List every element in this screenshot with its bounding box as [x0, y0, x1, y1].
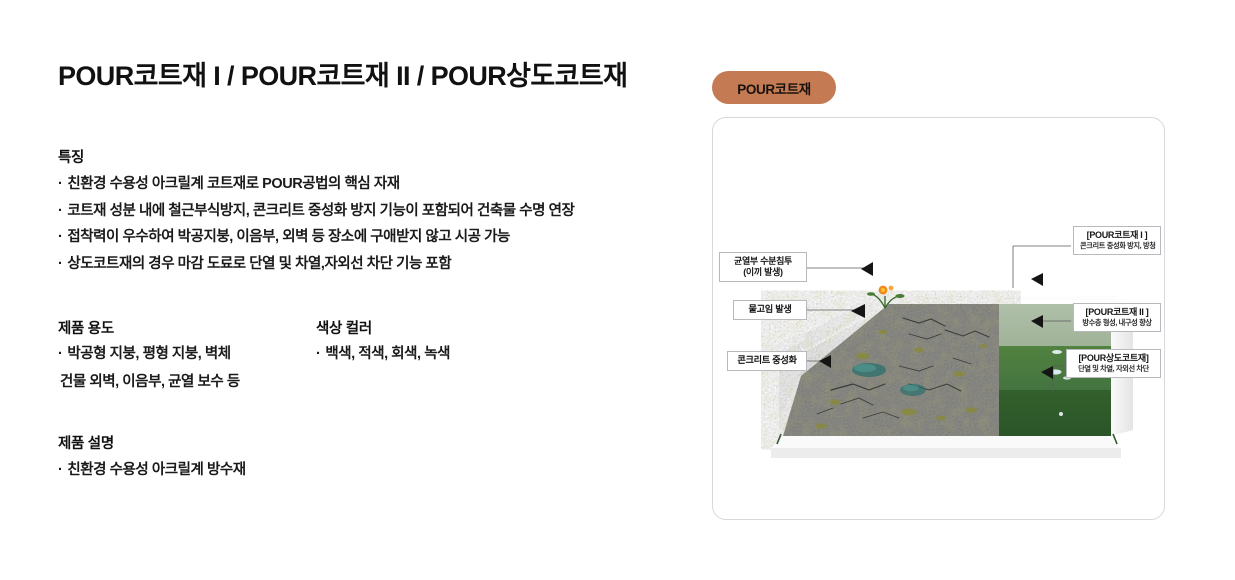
- callout-line1: 콘크리트 중성화: [734, 355, 800, 366]
- list-item: ·접착력이 우수하여 박공지붕, 이음부, 외벽 등 장소에 구애받지 않고 시…: [58, 230, 574, 245]
- callout-line1: 균열부 수분침투: [726, 256, 800, 267]
- page-root: POUR코트재 I / POUR코트재 II / POUR상도코트재 특징 ·친…: [0, 0, 1235, 580]
- feature-text: 상도코트재의 경우 마감 도료로 단열 및 차열,자외선 차단 기능 포함: [67, 256, 451, 272]
- usage-list: ·박공형 지붕, 평형 지붕, 벽체: [58, 347, 231, 374]
- description-text: 친환경 수용성 아크릴계 방수재: [67, 462, 245, 478]
- feature-text: 접착력이 우수하여 박공지붕, 이음부, 외벽 등 장소에 구애받지 않고 시공…: [67, 229, 510, 245]
- color-text: 백색, 적색, 회색, 녹색: [325, 346, 450, 362]
- bullet-dot: ·: [58, 203, 62, 219]
- bullet-dot: ·: [58, 229, 62, 245]
- bullet-dot: ·: [58, 176, 62, 192]
- feature-text: 코트재 성분 내에 철근부식방지, 콘크리트 중성화 방지 기능이 포함되어 건…: [67, 203, 574, 219]
- features-list: ·친환경 수용성 아크릴계 코트재로 POUR공법의 핵심 자재 ·코트재 성분…: [58, 177, 574, 283]
- callout-pour-top-coat: [POUR상도코트재] 단열 및 차열, 자외선 차단: [1066, 349, 1161, 378]
- bullet-dot: ·: [58, 256, 62, 272]
- callout-pour-coat-2: [POUR코트재 II ] 방수층 형성, 내구성 향상: [1073, 303, 1161, 332]
- pour-coat-badge: POUR코트재: [712, 71, 836, 104]
- description-heading: 제품 설명: [58, 432, 114, 453]
- callout-line1: [POUR코트재 II ]: [1080, 307, 1154, 318]
- callout-line2: (이끼 발생): [726, 267, 800, 278]
- coat-band-bottom: [999, 390, 1111, 436]
- list-item: ·코트재 성분 내에 철근부식방지, 콘크리트 중성화 방지 기능이 포함되어 …: [58, 204, 574, 219]
- callout-line2: 방수층 형성, 내구성 향상: [1080, 319, 1154, 327]
- features-heading: 특징: [58, 146, 84, 167]
- colors-list: ·백색, 적색, 회색, 녹색: [316, 347, 450, 374]
- callout-crack-moisture: 균열부 수분침투 (이끼 발생): [719, 252, 807, 282]
- usage-text: 박공형 지붕, 평형 지붕, 벽체: [67, 346, 230, 362]
- callout-line1: 물고임 발생: [740, 304, 800, 315]
- list-item: ·박공형 지붕, 평형 지붕, 벽체: [58, 347, 231, 362]
- callout-line2: 단열 및 차열, 자외선 차단: [1073, 365, 1154, 373]
- bullet-dot: ·: [58, 346, 62, 362]
- colors-heading: 색상 컬러: [316, 317, 372, 338]
- usage-extra-line: 건물 외벽, 이음부, 균열 보수 등: [60, 375, 240, 390]
- callout-concrete-neutralization: 콘크리트 중성화: [727, 351, 807, 371]
- callout-water-pooling: 물고임 발생: [733, 300, 807, 320]
- bullet-dot: ·: [316, 346, 320, 362]
- feature-text: 친환경 수용성 아크릴계 코트재로 POUR공법의 핵심 자재: [67, 176, 399, 192]
- diagram-panel: 균열부 수분침투 (이끼 발생) 물고임 발생 콘크리트 중성화 [POUR코트…: [712, 117, 1165, 520]
- list-item: ·친환경 수용성 아크릴계 코트재로 POUR공법의 핵심 자재: [58, 177, 574, 192]
- list-item: ·백색, 적색, 회색, 녹색: [316, 347, 450, 362]
- left-content-column: POUR코트재 I / POUR코트재 II / POUR상도코트재 특징 ·친…: [58, 60, 658, 92]
- usage-heading: 제품 용도: [58, 317, 114, 338]
- callout-line2: 콘크리트 중성화 방지, 방청: [1080, 242, 1154, 250]
- bullet-dot: ·: [58, 462, 62, 478]
- list-item: ·상도코트재의 경우 마감 도료로 단열 및 차열,자외선 차단 기능 포함: [58, 257, 574, 272]
- callout-pour-coat-1: [POUR코트재 I ] 콘크리트 중성화 방지, 방청: [1073, 226, 1161, 255]
- description-list: ·친환경 수용성 아크릴계 방수재: [58, 463, 246, 490]
- diagram-stage: 균열부 수분침투 (이끼 발생) 물고임 발생 콘크리트 중성화 [POUR코트…: [713, 118, 1164, 519]
- page-title: POUR코트재 I / POUR코트재 II / POUR상도코트재: [58, 60, 658, 92]
- callout-line1: [POUR코트재 I ]: [1080, 230, 1154, 241]
- callout-line1: [POUR상도코트재]: [1073, 353, 1154, 364]
- list-item: ·친환경 수용성 아크릴계 방수재: [58, 463, 246, 478]
